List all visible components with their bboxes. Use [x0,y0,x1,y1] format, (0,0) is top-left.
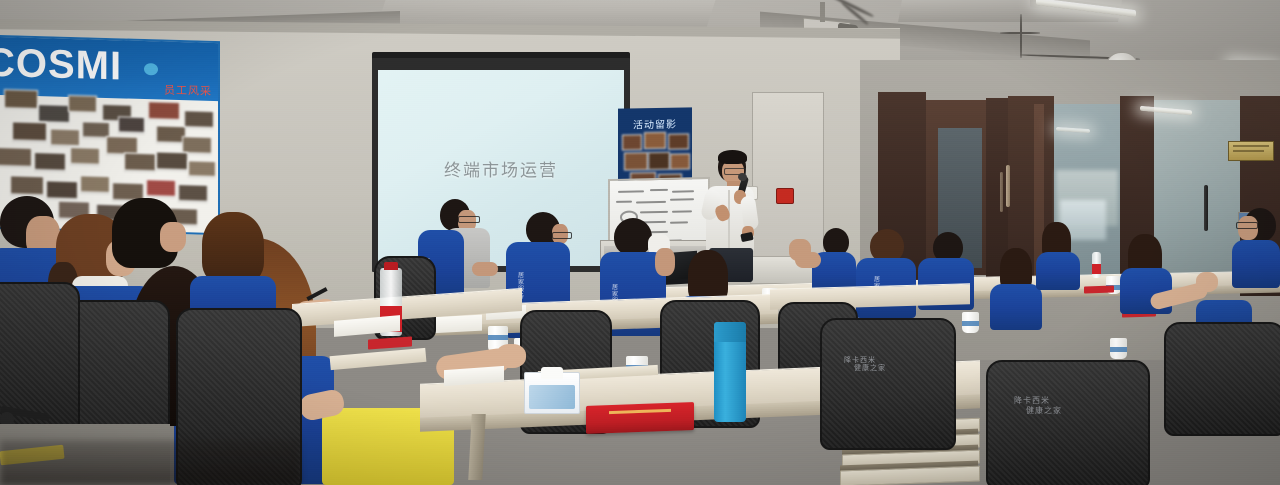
board-logo-text: COSMI [0,41,122,90]
tissue-box [524,372,580,414]
desk-divider-rail [330,348,427,370]
board-sub-text: 员工风采 [164,82,212,99]
tissue-sheet [541,367,563,379]
glasses-icon [552,232,572,239]
door-handle[interactable] [1204,185,1208,231]
red-folder [1084,285,1114,293]
red-folder [368,336,412,349]
back-door[interactable] [752,92,824,269]
paper-cup [1110,338,1127,359]
office-chair[interactable] [1164,322,1280,436]
red-notebook [586,402,694,434]
foreground-shadow [0,440,300,485]
desk-leg [468,414,485,480]
glasses-icon [458,216,480,223]
door-handle[interactable] [1000,172,1003,212]
glass-door [1154,100,1240,290]
conduit-pipe [1000,32,1040,34]
office-chair[interactable]: 降卡西米健康之家 [986,360,1150,485]
office-chair[interactable]: 降卡西米健康之家 [820,318,956,450]
fire-alarm-icon [776,188,794,204]
wall-plaque [1228,141,1274,161]
wood-partition-post [986,98,1008,278]
presenter-hair [718,150,747,164]
projection-screen: 终端市场运营 [378,70,624,266]
water-bottle [1092,252,1101,278]
door-handle[interactable] [1006,165,1010,207]
thermos-flask [714,322,746,422]
glasses-icon [1236,222,1258,229]
projector-mount-arm [820,2,825,22]
slide-title: 终端市场运营 [378,156,624,181]
board-logo-dot [144,63,158,75]
paper-cup [962,312,979,333]
training-room-photo: COSMI 员工风采 终端市场运营 [0,0,1280,485]
conduit-pipe [1020,14,1022,58]
paper-sheet [430,315,482,334]
poster-title: 活动留影 [618,115,692,131]
